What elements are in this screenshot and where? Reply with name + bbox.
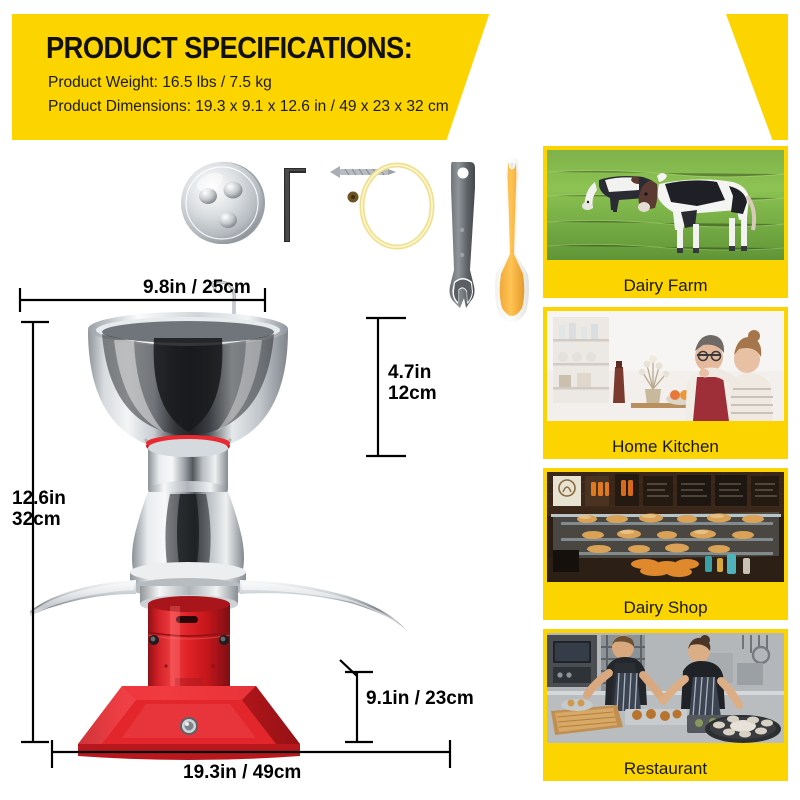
header-banner bbox=[12, 14, 788, 140]
motor-housing bbox=[148, 596, 230, 694]
cream-spout-left bbox=[30, 580, 136, 626]
product-base bbox=[78, 686, 300, 760]
stainless-bowl bbox=[88, 312, 288, 453]
dim-bowl-width: 9.8in / 25cm bbox=[143, 277, 251, 298]
dim-bowl-height: 4.7in 12cm bbox=[388, 362, 437, 405]
dim-bowl-height-in: 4.7in bbox=[388, 362, 431, 383]
pepper-mill bbox=[613, 367, 625, 403]
dim-total-width: 19.3in / 49cm bbox=[183, 762, 301, 783]
usecase-card-dairy-farm[interactable]: Dairy Farm bbox=[543, 146, 788, 298]
hex-key-icon bbox=[280, 162, 312, 247]
usecase-card-dairy-shop[interactable]: Dairy Shop bbox=[543, 468, 788, 620]
dairy-farm-photo bbox=[547, 150, 784, 260]
usecase-card-restaurant[interactable]: Restaurant bbox=[543, 629, 788, 781]
dim-bowl-height-cm: 12cm bbox=[388, 383, 437, 404]
usecase-label-home-kitchen: Home Kitchen bbox=[543, 437, 788, 457]
usecase-label-dairy-shop: Dairy Shop bbox=[543, 598, 788, 618]
usecase-card-home-kitchen[interactable]: Home Kitchen bbox=[543, 307, 788, 459]
usecase-card-list: Dairy Farm bbox=[543, 146, 788, 790]
round-platter bbox=[705, 715, 781, 743]
milk-spout-right bbox=[240, 580, 406, 630]
dairy-shop-photo bbox=[547, 472, 784, 582]
home-kitchen-photo bbox=[547, 311, 784, 421]
usecase-label-dairy-farm: Dairy Farm bbox=[543, 276, 788, 296]
usecase-label-restaurant: Restaurant bbox=[543, 759, 788, 779]
dim-base-depth: 9.1in / 23cm bbox=[366, 688, 474, 709]
gasket-ring-icon bbox=[355, 158, 439, 254]
metal-disc-icon bbox=[178, 158, 268, 248]
restaurant-photo bbox=[547, 633, 784, 743]
dim-total-height-in: 12.6in bbox=[12, 488, 66, 509]
kitchen-shelves bbox=[553, 317, 609, 403]
separator-neck bbox=[148, 439, 228, 499]
separator-body bbox=[132, 492, 244, 574]
dim-total-height-cm: 32cm bbox=[12, 509, 61, 530]
menu-boards bbox=[553, 474, 779, 506]
dim-total-height: 12.6in 32cm bbox=[12, 488, 66, 531]
infographic-page: PRODUCT SPECIFICATIONS: Product Weight: … bbox=[0, 0, 800, 800]
